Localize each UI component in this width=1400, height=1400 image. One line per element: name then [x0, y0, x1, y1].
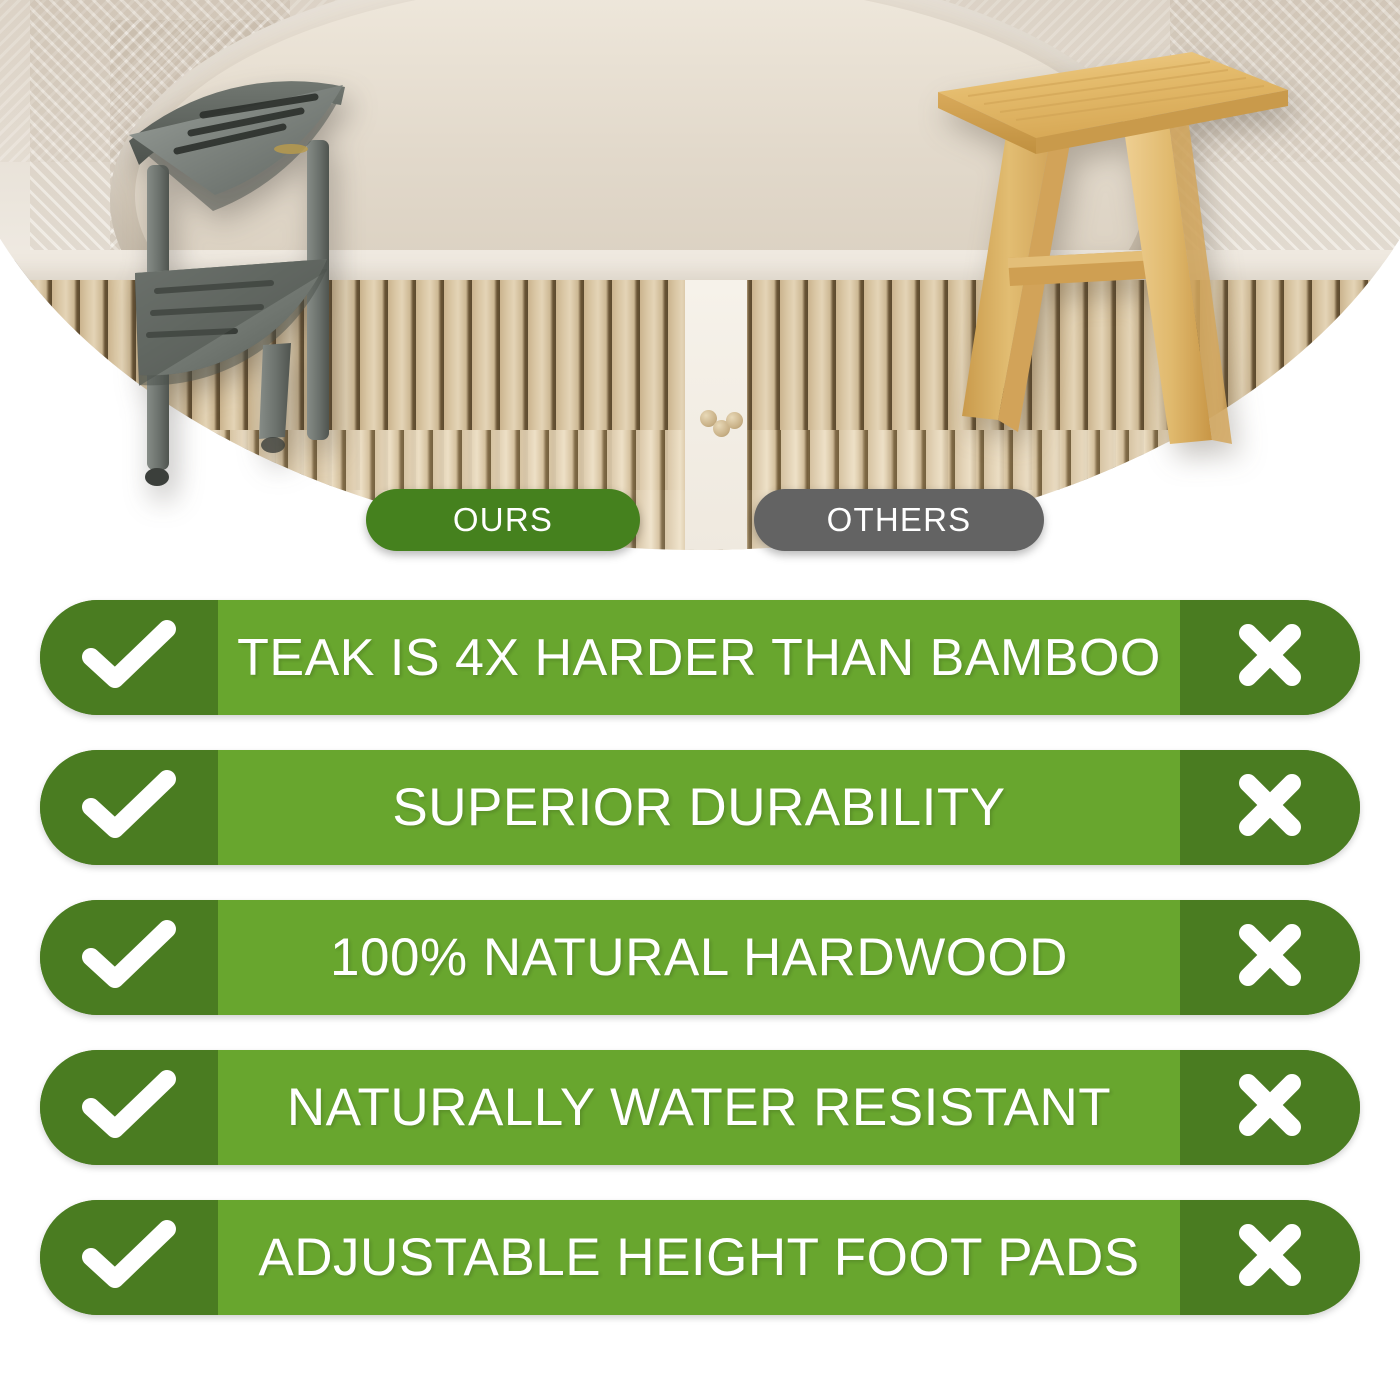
cross-icon [1234, 769, 1306, 846]
product-image-others [860, 20, 1300, 520]
check-icon [81, 919, 177, 996]
ours-cell [40, 900, 218, 1015]
ours-cell [40, 600, 218, 715]
product-image-ours [95, 45, 475, 535]
comparison-row: 100% NATURAL HARDWOOD [40, 900, 1360, 1015]
ours-cell [40, 750, 218, 865]
feature-label-cell: 100% NATURAL HARDWOOD [218, 900, 1180, 1015]
feature-label: 100% NATURAL HARDWOOD [330, 931, 1068, 984]
check-icon [81, 1219, 177, 1296]
feature-label: TEAK IS 4X HARDER THAN BAMBOO [237, 632, 1161, 684]
feature-label-cell: NATURALLY WATER RESISTANT [218, 1050, 1180, 1165]
feature-label: ADJUSTABLE HEIGHT FOOT PADS [258, 1231, 1139, 1284]
others-cell [1180, 1050, 1360, 1165]
rope-beads [700, 410, 740, 450]
check-icon [81, 619, 177, 696]
comparison-row: NATURALLY WATER RESISTANT [40, 1050, 1360, 1165]
product-photo-area: OURS OTHERS [0, 0, 1400, 575]
others-cell [1180, 900, 1360, 1015]
check-icon [81, 1069, 177, 1146]
feature-label-cell: SUPERIOR DURABILITY [218, 750, 1180, 865]
cross-icon [1234, 919, 1306, 996]
cross-icon [1234, 1069, 1306, 1146]
others-cell [1180, 600, 1360, 715]
ours-cell [40, 1050, 218, 1165]
comparison-infographic: OURS OTHERS TEAK IS 4X HARDER THAN BAMBO… [0, 0, 1400, 1400]
comparison-row: ADJUSTABLE HEIGHT FOOT PADS [40, 1200, 1360, 1315]
feature-label: NATURALLY WATER RESISTANT [287, 1081, 1111, 1134]
ours-cell [40, 1200, 218, 1315]
cross-icon [1234, 619, 1306, 696]
feature-label: SUPERIOR DURABILITY [392, 781, 1005, 834]
feature-label-cell: TEAK IS 4X HARDER THAN BAMBOO [218, 600, 1180, 715]
comparison-row: TEAK IS 4X HARDER THAN BAMBOO [40, 600, 1360, 715]
others-cell [1180, 750, 1360, 865]
badge-ours[interactable]: OURS [366, 489, 640, 551]
badge-others[interactable]: OTHERS [754, 489, 1044, 551]
feature-label-cell: ADJUSTABLE HEIGHT FOOT PADS [218, 1200, 1180, 1315]
check-icon [81, 769, 177, 846]
cross-icon [1234, 1219, 1306, 1296]
comparison-row: SUPERIOR DURABILITY [40, 750, 1360, 865]
comparison-rows: TEAK IS 4X HARDER THAN BAMBOOSUPERIOR DU… [0, 600, 1400, 1350]
others-cell [1180, 1200, 1360, 1315]
